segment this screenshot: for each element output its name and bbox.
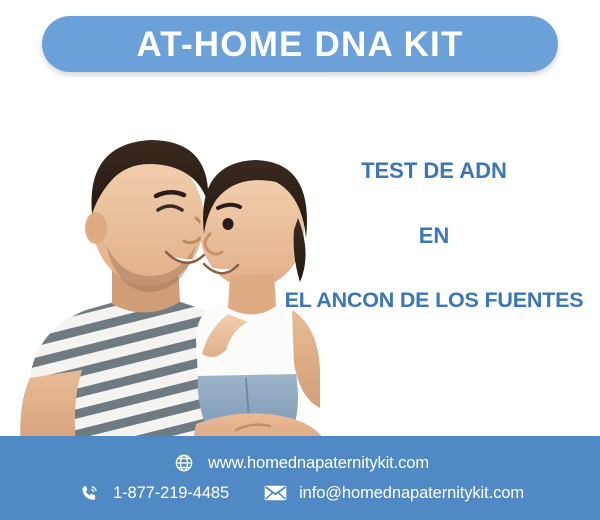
promotional-poster: AT-HOME DNA KIT <box>0 0 600 520</box>
phone-text: 1-877-219-4485 <box>113 485 229 502</box>
website-text: www.homednapaternitykit.com <box>208 455 429 472</box>
website-contact[interactable]: www.homednapaternitykit.com <box>171 452 429 474</box>
footer-rows: www.homednapaternitykit.com 1-877-219-44… <box>0 448 600 508</box>
phone-contact[interactable]: 1-877-219-4485 <box>76 482 229 504</box>
headline-line-1: TEST DE ADN <box>268 160 600 182</box>
headline-block: TEST DE ADN EN EL ANCON DE LOS FUENTES <box>268 160 600 312</box>
header-banner: AT-HOME DNA KIT <box>42 16 558 72</box>
headline-line-2: EN <box>268 225 600 247</box>
globe-icon <box>171 452 197 474</box>
email-contact[interactable]: info@homednapaternitykit.com <box>262 482 524 504</box>
footer-row-phone-email: 1-877-219-4485 info@homednapaternitykit.… <box>0 478 600 508</box>
envelope-icon <box>262 482 288 504</box>
headline-line-3: EL ANCON DE LOS FUENTES <box>268 290 600 312</box>
footer-contact-bar: www.homednapaternitykit.com 1-877-219-44… <box>0 436 600 520</box>
phone-icon <box>76 482 102 504</box>
footer-row-website: www.homednapaternitykit.com <box>0 448 600 478</box>
header-title: AT-HOME DNA KIT <box>136 27 463 62</box>
email-text: info@homednapaternitykit.com <box>299 485 524 502</box>
